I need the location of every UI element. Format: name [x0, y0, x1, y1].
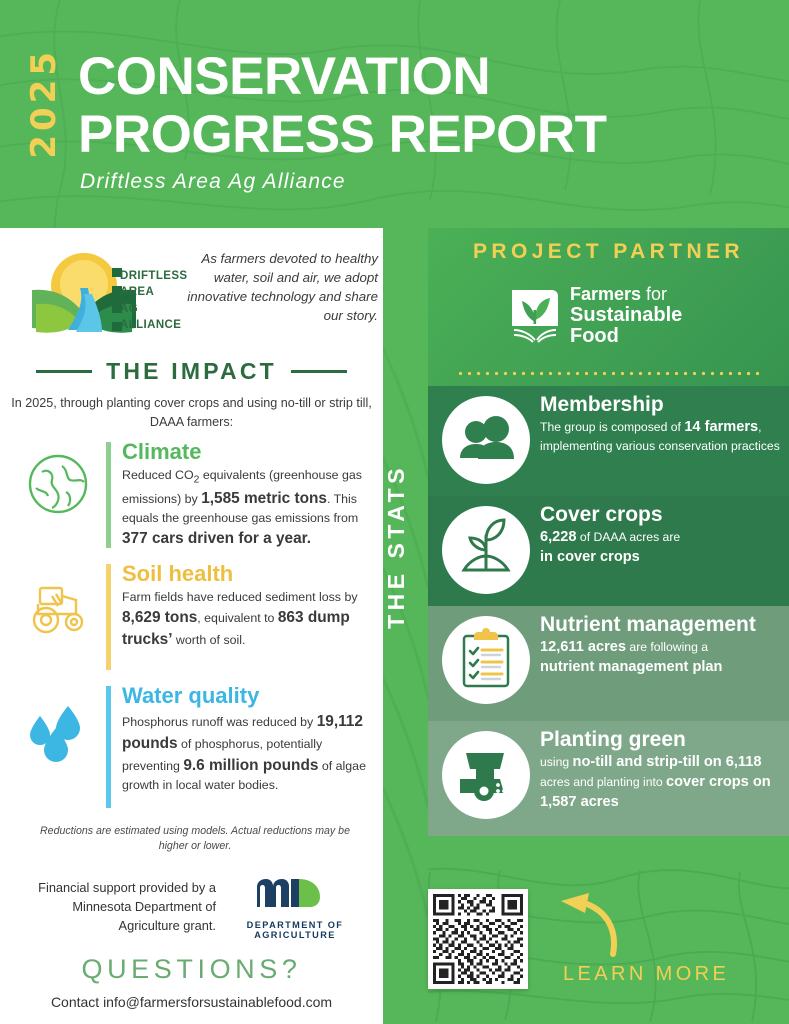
impact-water-text: Phosphorus runoff was reduced by 19,112 … — [122, 711, 370, 795]
mission-statement: As farmers devoted to healthy water, soi… — [178, 250, 378, 326]
mda-logo-line1: DEPARTMENT OF — [231, 920, 359, 930]
impact-heading-text: THE IMPACT — [106, 358, 277, 385]
impact-item-soil-health: Soil health Farm fields have reduced sed… — [22, 562, 370, 674]
impact-soil-text: Farm fields have reduced sediment loss b… — [122, 589, 370, 651]
divider-left — [36, 370, 92, 373]
qr-code-image — [433, 894, 523, 984]
accent-bar-water — [106, 686, 111, 808]
stat-membership-text: The group is composed of 14 farmers, imp… — [540, 418, 780, 454]
stat-nutrient-body: Nutrient management 12,611 acres are fol… — [540, 614, 780, 678]
planter-icon — [442, 731, 530, 819]
curved-arrow-icon — [551, 892, 631, 958]
the-stats-label: THE STATS — [383, 464, 428, 629]
impact-climate-text: Reduced CO2 equivalents (greenhouse gas … — [122, 467, 370, 550]
minnesota-department-of-agriculture-logo: DEPARTMENT OF AGRICULTURE — [231, 873, 359, 939]
contact-email-line[interactable]: Contact info@farmersforsustainablefood.c… — [0, 994, 383, 1010]
fsf-line1: Farmers for — [570, 284, 682, 305]
globe-icon — [22, 448, 94, 520]
organization-subtitle: Driftless Area Ag Alliance — [80, 170, 346, 194]
stat-cover-crops-icon-circle — [442, 506, 530, 594]
mn-mark-icon — [231, 873, 359, 915]
impact-item-climate: Climate Reduced CO2 equivalents (greenho… — [22, 440, 370, 552]
conservation-progress-report-poster: 2025 CONSERVATION PROGRESS REPORT Driftl… — [0, 0, 789, 1024]
stat-nutrient-title: Nutrient management — [540, 614, 780, 636]
logo-and-mission-row: DRIFTLESS AREA AG ALLIANCE As farmers de… — [28, 240, 368, 352]
fsf-book-leaf-icon — [508, 286, 562, 344]
left-content-panel: DRIFTLESS AREA AG ALLIANCE As farmers de… — [0, 228, 383, 1024]
qr-code[interactable] — [428, 889, 528, 989]
water-drops-icon — [22, 692, 94, 764]
tractor-icon — [22, 570, 94, 642]
impact-section-heading: THE IMPACT — [0, 358, 383, 385]
accent-bar-climate — [106, 442, 111, 548]
stat-planting-green: Planting green using no-till and strip-t… — [428, 721, 789, 836]
stat-cover-crops-body: Cover crops 6,228 of DAAA acres arein co… — [540, 504, 780, 568]
fsf-line3: Food — [570, 326, 682, 347]
stat-nutrient-management: Nutrient management 12,611 acres are fol… — [428, 606, 789, 721]
stat-cover-crops-title: Cover crops — [540, 504, 780, 526]
stat-membership-body: Membership The group is composed of 14 f… — [540, 394, 780, 454]
questions-heading: QUESTIONS? — [0, 954, 383, 985]
impact-soil-body: Soil health Farm fields have reduced sed… — [122, 562, 370, 651]
grant-text: Financial support provided by a Minnesot… — [26, 879, 216, 936]
impact-water-body: Water quality Phosphorus runoff was redu… — [122, 684, 370, 795]
impact-climate-title: Climate — [122, 440, 370, 464]
footer-learn-more: LEARN MORE — [383, 870, 789, 1024]
impact-climate-body: Climate Reduced CO2 equivalents (greenho… — [122, 440, 370, 550]
stat-nutrient-icon-circle — [442, 616, 530, 704]
grant-acknowledgement: Financial support provided by a Minnesot… — [26, 873, 366, 945]
page-title-line1: CONSERVATION — [78, 50, 490, 103]
stat-membership-icon-circle — [442, 396, 530, 484]
mda-logo-line2: AGRICULTURE — [231, 930, 359, 940]
people-icon — [442, 396, 530, 484]
divider-right — [291, 370, 347, 373]
stat-membership-title: Membership — [540, 394, 780, 416]
stat-cover-crops: Cover crops 6,228 of DAAA acres arein co… — [428, 496, 789, 606]
learn-more-label[interactable]: LEARN MORE — [563, 963, 773, 986]
impact-water-title: Water quality — [122, 684, 370, 708]
page-title-line2: PROGRESS REPORT — [78, 108, 606, 161]
stat-planting-title: Planting green — [540, 729, 780, 751]
poster-header: 2025 CONSERVATION PROGRESS REPORT Driftl… — [0, 0, 789, 228]
report-year: 2025 — [24, 48, 64, 159]
stat-nutrient-text: 12,611 acres are following anutrient man… — [540, 638, 780, 677]
project-partner-title: PROJECT PARTNER — [428, 240, 789, 264]
estimate-disclaimer: Reductions are estimated using models. A… — [40, 824, 350, 854]
fsf-line2: Sustainable — [570, 305, 682, 326]
stat-planting-body: Planting green using no-till and strip-t… — [540, 729, 780, 812]
fsf-wordmark: Farmers for Sustainable Food — [570, 284, 682, 348]
stat-planting-icon-circle — [442, 731, 530, 819]
impact-item-water-quality: Water quality Phosphorus runoff was redu… — [22, 684, 370, 812]
seedling-icon — [442, 506, 530, 594]
clipboard-check-icon — [442, 616, 530, 704]
impact-soil-title: Soil health — [122, 562, 370, 586]
dotted-divider — [456, 371, 761, 376]
impact-intro-text: In 2025, through planting cover crops an… — [0, 394, 383, 431]
stat-planting-text: using no-till and strip-till on 6,118 ac… — [540, 753, 780, 812]
farmers-for-sustainable-food-logo: Farmers for Sustainable Food — [508, 284, 718, 346]
accent-bar-soil — [106, 564, 111, 670]
stat-cover-crops-text: 6,228 of DAAA acres arein cover crops — [540, 528, 780, 567]
stat-membership: Membership The group is composed of 14 f… — [428, 386, 789, 496]
